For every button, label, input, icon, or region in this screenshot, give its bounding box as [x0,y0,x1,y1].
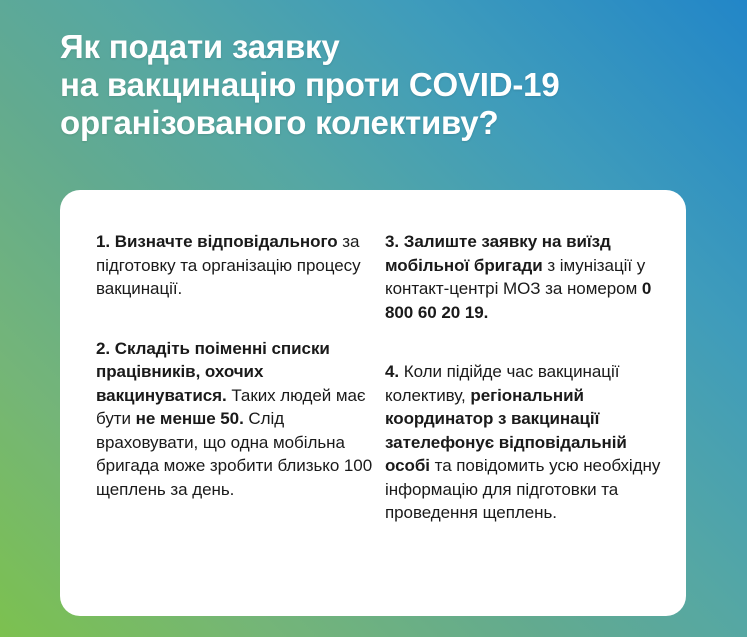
step-3-text: 3. Залиште заявку на виїзд мобільної бри… [385,230,662,324]
steps-container: 1. Визначте відповідального за підготовк… [60,190,686,616]
step-4-text: 4. Коли підійде час вакцинації колективу… [385,360,662,525]
step-item-2: 2. Складіть поіменні списки працівників,… [96,337,373,502]
step-2-minimum-count: не менше 50. [136,409,244,428]
headline-line-1: Як подати заявку [60,28,720,66]
step-3-number: 3. [385,232,399,251]
page-title: Як подати заявку на вакцинацію проти COV… [60,28,720,142]
steps-column-left: 1. Визначте відповідального за підготовк… [96,230,373,596]
step-2-text: 2. Складіть поіменні списки працівників,… [96,337,373,502]
steps-column-right: 3. Залиште заявку на виїзд мобільної бри… [385,230,662,596]
infographic-poster: Як подати заявку на вакцинацію проти COV… [0,0,747,637]
step-1-bold-lead: Визначте відповідального [110,232,338,251]
step-item-3: 3. Залиште заявку на виїзд мобільної бри… [385,230,662,324]
headline-line-2: на вакцинацію проти COVID-19 [60,66,720,104]
step-1-number: 1. [96,232,110,251]
step-2-number: 2. [96,339,110,358]
step-item-4: 4. Коли підійде час вакцинації колективу… [385,360,662,525]
step-4-number: 4. [385,362,399,381]
headline-line-3: організованого колективу? [60,104,720,142]
step-item-1: 1. Визначте відповідального за підготовк… [96,230,373,301]
content-card: 1. Визначте відповідального за підготовк… [60,190,686,616]
step-1-text: 1. Визначте відповідального за підготовк… [96,230,373,301]
